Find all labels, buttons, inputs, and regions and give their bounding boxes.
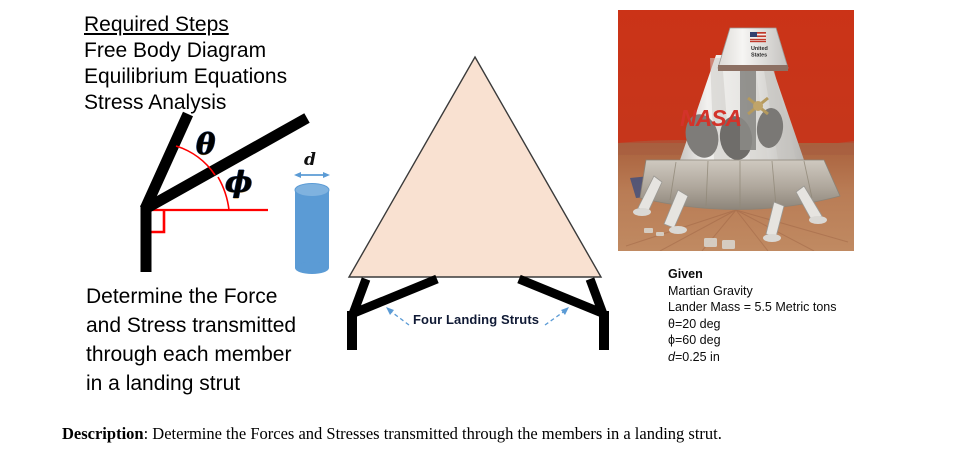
determine-line-1: Determine the Force — [86, 282, 336, 311]
theta-angle-label: θ — [196, 127, 215, 161]
diameter-label: d — [304, 150, 316, 170]
given-diameter-symbol: d — [668, 350, 675, 364]
determine-line-2: and Stress transmitted — [86, 311, 336, 340]
nasa-logo-text: NASA — [680, 105, 741, 131]
steep-strut-member — [145, 114, 188, 209]
description-separator: : — [144, 424, 153, 443]
struts-leader-left — [389, 310, 409, 325]
given-line-theta: θ=20 deg — [668, 316, 878, 333]
determine-line-3: through each member — [86, 340, 336, 369]
capsule-base-ring — [718, 65, 788, 71]
cylinder-bottom-cap — [295, 262, 329, 274]
given-heading: Given — [668, 266, 878, 283]
right-outer-strut — [519, 279, 602, 313]
lander-body-triangle — [349, 57, 601, 277]
four-landing-struts-caption: Four Landing Struts — [413, 312, 539, 327]
mars-lander-photo: United States NASA — [618, 10, 854, 251]
required-steps-block: Required Steps Free Body Diagram Equilib… — [84, 12, 354, 116]
given-values-block: Given Martian Gravity Lander Mass = 5.5 … — [668, 266, 878, 365]
svg-text:States: States — [751, 53, 767, 59]
description-text: Determine the Forces and Stresses transm… — [152, 424, 722, 443]
cylinder-top-cap — [295, 184, 329, 197]
left-outer-strut — [354, 279, 437, 313]
given-line-mass: Lander Mass = 5.5 Metric tons — [668, 299, 878, 316]
diameter-arrow-right-icon — [323, 172, 330, 178]
given-line-gravity: Martian Gravity — [668, 283, 878, 300]
struts-arrow-left-icon — [386, 307, 394, 315]
required-steps-title: Required Steps — [84, 12, 354, 38]
determine-task-block: Determine the Force and Stress transmitt… — [86, 282, 336, 398]
given-line-phi: ϕ=60 deg — [668, 332, 878, 349]
cylinder-diameter-figure — [294, 172, 330, 274]
lander-schematic — [349, 57, 604, 350]
description-paragraph: Description: Determine the Forces and St… — [62, 421, 897, 446]
diameter-arrow-left-icon — [294, 172, 301, 178]
slide-canvas: Required Steps Free Body Diagram Equilib… — [0, 0, 957, 474]
capsule-flag-caption: United — [751, 46, 768, 52]
description-label: Description — [62, 424, 144, 443]
phi-angle-label: ϕ — [225, 165, 252, 199]
required-steps-item-3: Stress Analysis — [84, 90, 354, 116]
right-angle-marker — [143, 210, 164, 232]
mars-lander-photo-art: United States NASA — [618, 10, 854, 251]
determine-line-4: in a landing strut — [86, 369, 336, 398]
left-inner-strut — [353, 279, 366, 314]
struts-leader-right — [545, 310, 566, 325]
given-diameter-value: =0.25 in — [675, 350, 720, 364]
struts-arrow-right-icon — [561, 307, 569, 315]
required-steps-item-1: Free Body Diagram — [84, 38, 354, 64]
cylinder-body — [295, 190, 329, 268]
required-steps-item-2: Equilibrium Equations — [84, 64, 354, 90]
lander-antenna-hub — [753, 101, 763, 111]
given-line-diameter: d=0.25 in — [668, 349, 878, 366]
right-inner-strut — [590, 279, 603, 314]
